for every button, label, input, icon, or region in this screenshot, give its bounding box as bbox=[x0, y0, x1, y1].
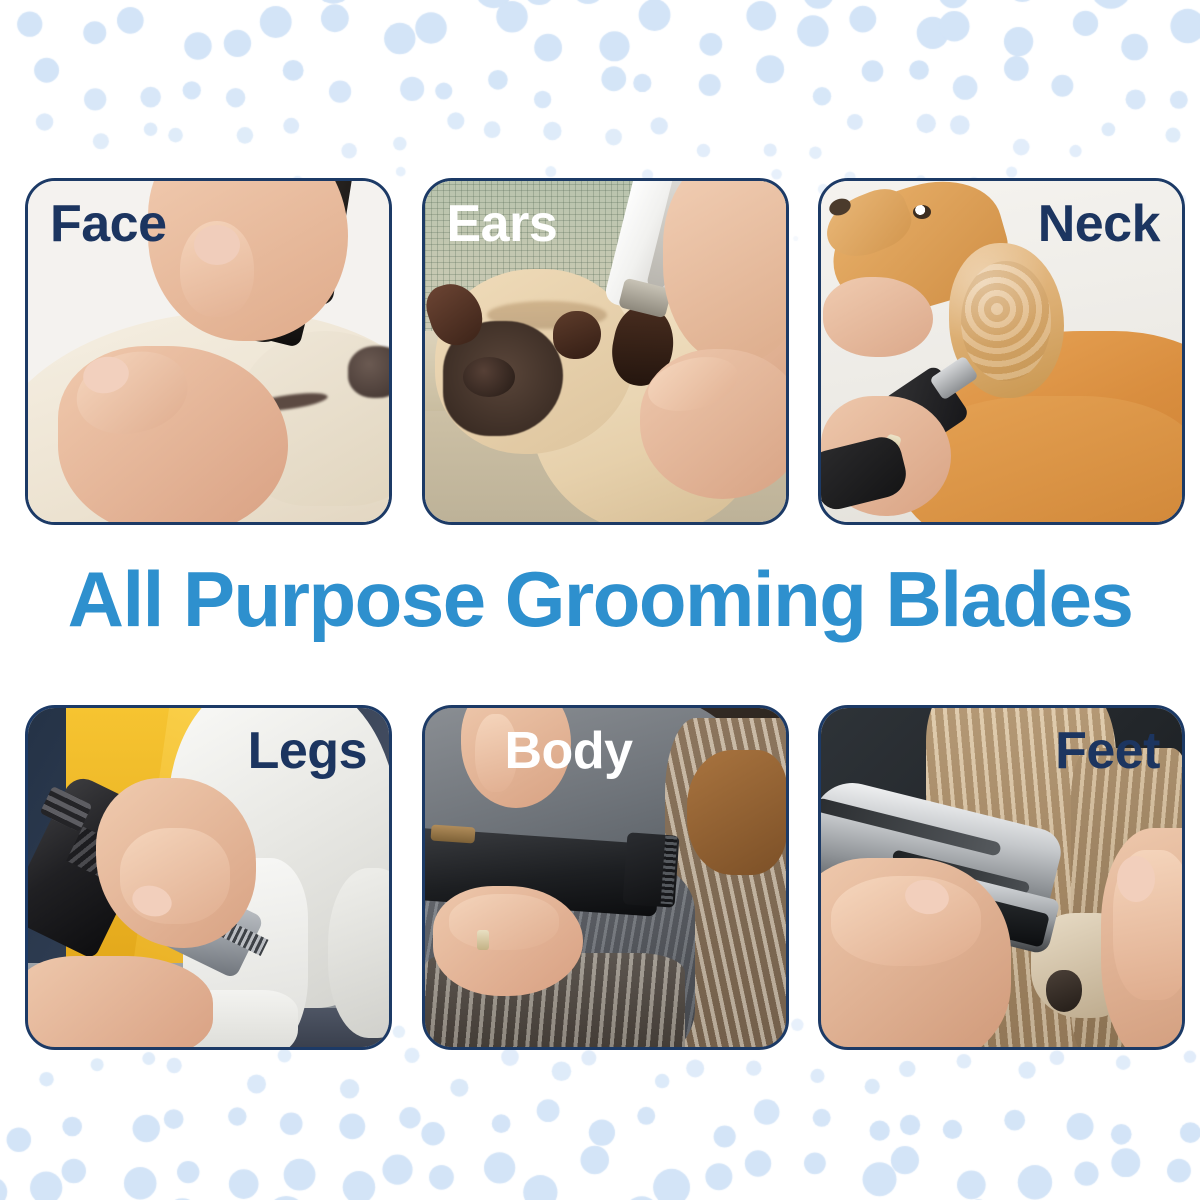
card-face[interactable]: Face bbox=[25, 178, 392, 525]
card-label-feet: Feet bbox=[1055, 724, 1160, 779]
infographic-page: Face bbox=[0, 0, 1200, 1200]
headline-title: All Purpose Grooming Blades bbox=[0, 560, 1200, 638]
card-label-face: Face bbox=[50, 197, 167, 252]
card-row-bottom: Legs Body bbox=[25, 705, 1185, 1050]
card-label-body: Body bbox=[505, 724, 633, 779]
card-neck[interactable]: Neck bbox=[818, 178, 1185, 525]
card-label-legs: Legs bbox=[248, 724, 367, 779]
card-label-ears: Ears bbox=[447, 197, 558, 252]
card-row-top: Face bbox=[25, 178, 1185, 525]
card-label-neck: Neck bbox=[1038, 197, 1160, 252]
card-legs[interactable]: Legs bbox=[25, 705, 392, 1050]
card-body[interactable]: Body bbox=[422, 705, 789, 1050]
card-ears[interactable]: Ears bbox=[422, 178, 789, 525]
card-feet[interactable]: Feet bbox=[818, 705, 1185, 1050]
